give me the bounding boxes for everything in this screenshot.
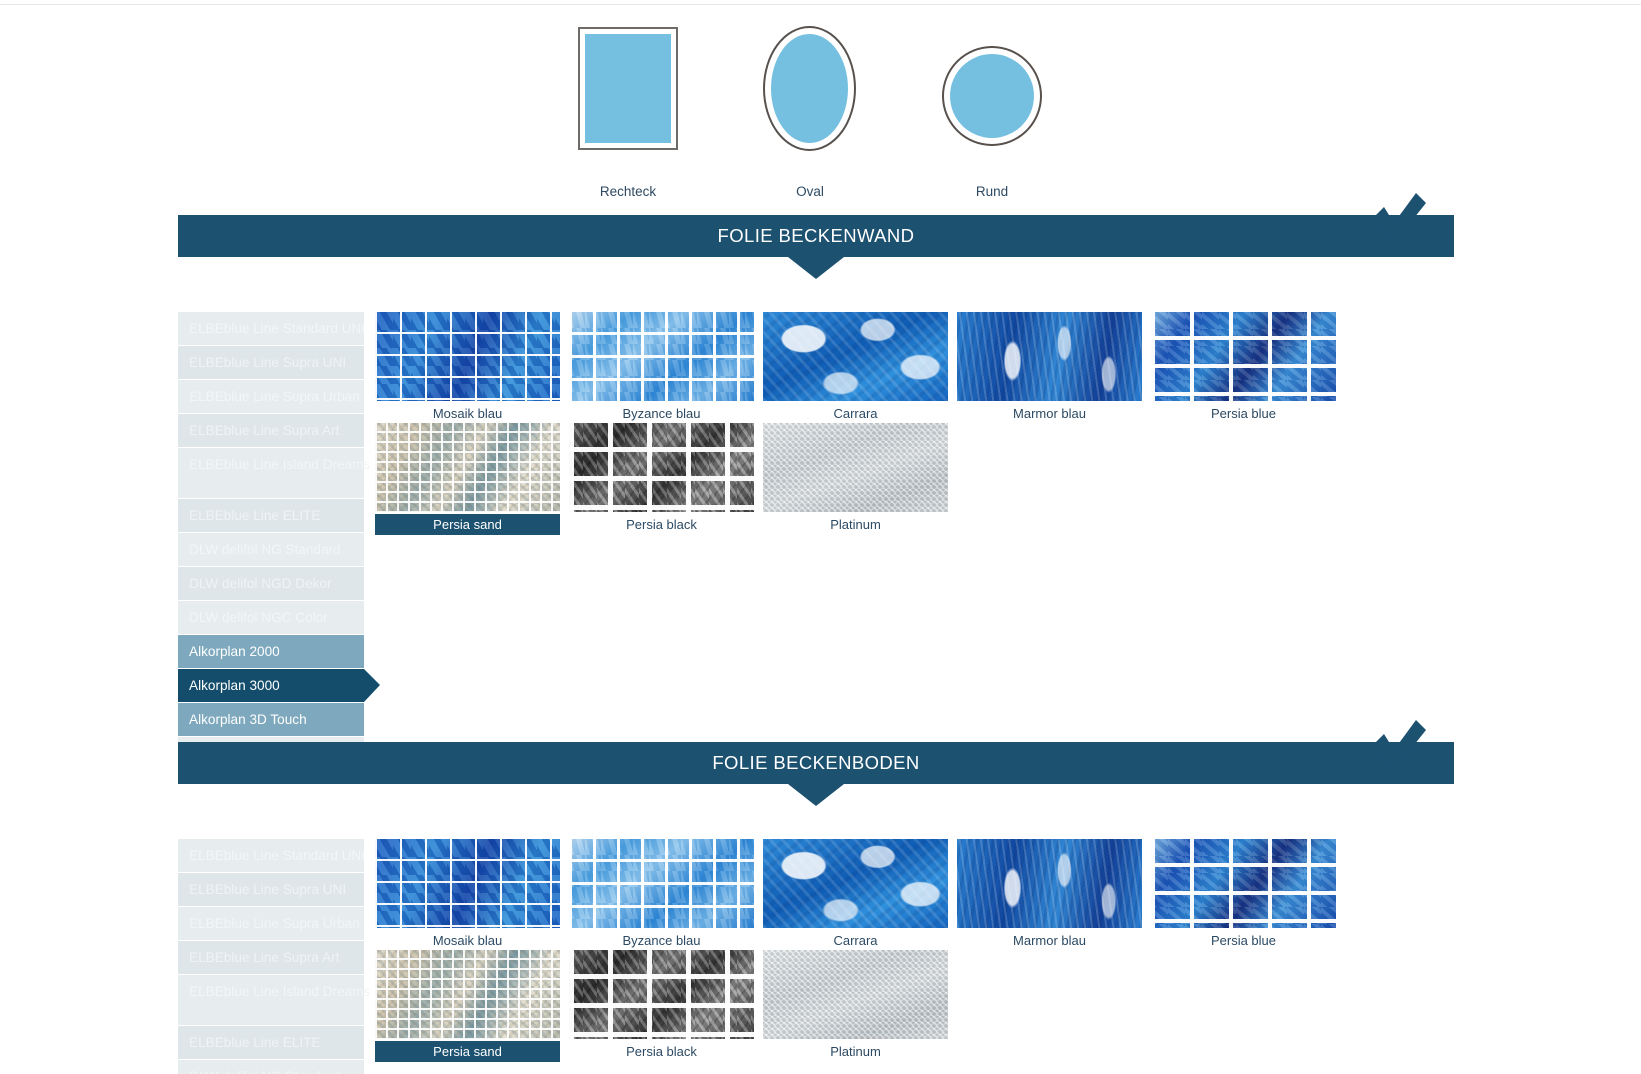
liner-brand-item: ELBEblue Line ELITE: [178, 1026, 364, 1059]
liner-swatch[interactable]: Persia black: [569, 423, 754, 535]
liner-swatch[interactable]: Platinum: [763, 950, 948, 1062]
liner-brand-label: ELBEblue Line Standard UNI: [189, 848, 365, 863]
liner-brand-label: ELBEblue Line Island Dreams: [189, 456, 364, 474]
section-header-bar-wall[interactable]: FOLIE BECKENWAND: [178, 215, 1454, 257]
section-title-floor: FOLIE BECKENBODEN: [178, 742, 1454, 784]
section-folie-beckenboden: FOLIE BECKENBODEN ELBEblue Line Standard…: [0, 742, 1641, 1074]
section-header-bar-floor[interactable]: FOLIE BECKENBODEN: [178, 742, 1454, 784]
liner-swatch-label: Platinum: [763, 1041, 948, 1062]
liner-brand-item: DLW delifol NG Standard: [178, 1060, 364, 1074]
liner-brand-label: Alkorplan 3000: [189, 678, 280, 693]
swatch-row: Mosaik blauByzance blauCarraraMarmor bla…: [375, 312, 1325, 423]
liner-texture-preview[interactable]: [763, 423, 948, 512]
section-header-wall[interactable]: FOLIE BECKENWAND: [0, 215, 1641, 257]
rectangle-pool-icon: [578, 27, 678, 150]
round-pool-icon: [942, 46, 1042, 146]
swatch-row: Mosaik blauByzance blauCarraraMarmor bla…: [375, 839, 1325, 950]
liner-texture-preview[interactable]: [1151, 839, 1336, 928]
liner-swatch-label: Carrara: [763, 403, 948, 424]
liner-swatch[interactable]: Persia black: [569, 950, 754, 1062]
liner-swatch-label: Persia black: [569, 1041, 754, 1062]
liner-brand-item: ELBEblue Line Supra Urban: [178, 907, 364, 940]
liner-texture-preview[interactable]: [375, 312, 560, 401]
section-folie-beckenwand: FOLIE BECKENWAND ELBEblue Line Standard …: [0, 215, 1641, 657]
liner-texture-preview[interactable]: [763, 950, 948, 1039]
section-header-floor[interactable]: FOLIE BECKENBODEN: [0, 742, 1641, 784]
liner-brand-label: ELBEblue Line Supra Urban: [189, 916, 360, 931]
round-pool-fill: [950, 54, 1034, 138]
top-divider: [0, 4, 1641, 5]
pool-shape-selector: Rechteck Oval Rund: [560, 14, 1080, 204]
liner-brand-item: ELBEblue Line Supra Art: [178, 941, 364, 974]
liner-swatch-label: Carrara: [763, 930, 948, 951]
checkmark-icon[interactable]: [1370, 191, 1430, 247]
liner-brand-item: DLW delifol NGC Color: [178, 601, 364, 634]
liner-brand-item: ELBEblue Line Standard UNI: [178, 839, 364, 872]
section-content-floor: ELBEblue Line Standard UNIELBEblue Line …: [0, 784, 1641, 1074]
liner-swatch[interactable]: Marmor blau: [957, 312, 1142, 424]
liner-brand-label: ELBEblue Line Supra UNI: [189, 355, 346, 370]
liner-swatch[interactable]: Byzance blau: [569, 312, 754, 424]
liner-swatch-grid-wall: Mosaik blauByzance blauCarraraMarmor bla…: [375, 312, 1325, 534]
liner-swatch-label: Persia sand: [375, 1041, 560, 1062]
oval-pool-fill: [771, 34, 848, 143]
liner-brand-label: DLW delifol NG Standard: [189, 1069, 341, 1074]
liner-texture-preview[interactable]: [569, 312, 754, 401]
liner-swatch-label: Persia blue: [1151, 930, 1336, 951]
liner-texture-preview[interactable]: [375, 423, 560, 512]
liner-swatch-label: Byzance blau: [569, 930, 754, 951]
liner-swatch-label: Persia blue: [1151, 403, 1336, 424]
swatch-row: Persia sandPersia blackPlatinum: [375, 950, 1325, 1061]
liner-brand-label: ELBEblue Line Island Dreams: [189, 983, 364, 1001]
liner-brand-label: ELBEblue Line Standard UNI: [189, 321, 365, 336]
liner-texture-preview[interactable]: [569, 950, 754, 1039]
liner-brand-label: ELBEblue Line Supra Art: [189, 950, 339, 965]
pool-configurator-page: Rechteck Oval Rund FOLIE BECKENWAND: [0, 0, 1641, 1074]
shape-label-rechteck: Rechteck: [600, 184, 656, 199]
liner-swatch[interactable]: Mosaik blau: [375, 839, 560, 951]
liner-brand-item[interactable]: Alkorplan 3000: [178, 669, 364, 702]
liner-texture-preview[interactable]: [569, 423, 754, 512]
liner-brand-label: Alkorplan 3D Touch: [189, 712, 307, 727]
liner-swatch[interactable]: Mosaik blau: [375, 312, 560, 424]
liner-texture-preview[interactable]: [375, 839, 560, 928]
active-pointer-icon: [364, 669, 380, 702]
liner-swatch[interactable]: Persia sand: [375, 423, 560, 535]
liner-brand-item: DLW delifol NGD Dekor: [178, 567, 364, 600]
liner-swatch-label: Marmor blau: [957, 403, 1142, 424]
liner-swatch[interactable]: Persia blue: [1151, 839, 1336, 951]
liner-swatch[interactable]: Carrara: [763, 312, 948, 424]
liner-swatch-grid-floor: Mosaik blauByzance blauCarraraMarmor bla…: [375, 839, 1325, 1061]
liner-brand-item: ELBEblue Line Island Dreams: [178, 975, 364, 1025]
liner-brand-label: DLW delifol NGC Color: [189, 610, 328, 625]
liner-swatch-label: Marmor blau: [957, 930, 1142, 951]
liner-texture-preview[interactable]: [763, 312, 948, 401]
liner-swatch[interactable]: Persia blue: [1151, 312, 1336, 424]
liner-texture-preview[interactable]: [957, 839, 1142, 928]
liner-swatch[interactable]: Carrara: [763, 839, 948, 951]
oval-pool-icon: [763, 26, 856, 151]
liner-swatch-label: Mosaik blau: [375, 930, 560, 951]
liner-brand-label: DLW delifol NGD Dekor: [189, 576, 332, 591]
liner-brand-item[interactable]: Alkorplan 3D Touch: [178, 703, 364, 736]
liner-swatch[interactable]: Persia sand: [375, 950, 560, 1062]
liner-swatch-label: Persia sand: [375, 514, 560, 535]
liner-brand-item: ELBEblue Line Island Dreams: [178, 448, 364, 498]
liner-texture-preview[interactable]: [763, 839, 948, 928]
shape-label-rund: Rund: [976, 184, 1008, 199]
section-title-wall: FOLIE BECKENWAND: [178, 215, 1454, 257]
liner-swatch[interactable]: Platinum: [763, 423, 948, 535]
liner-brand-item: ELBEblue Line Supra Urban: [178, 380, 364, 413]
liner-brand-item: DLW delifol NG Standard: [178, 533, 364, 566]
section-content-wall: ELBEblue Line Standard UNIELBEblue Line …: [0, 257, 1641, 657]
liner-texture-preview[interactable]: [957, 312, 1142, 401]
shape-label-oval: Oval: [796, 184, 824, 199]
liner-brand-list-floor: ELBEblue Line Standard UNIELBEblue Line …: [178, 839, 364, 1074]
liner-swatch[interactable]: Marmor blau: [957, 839, 1142, 951]
liner-swatch-label: Persia black: [569, 514, 754, 535]
liner-brand-label: ELBEblue Line Supra Art: [189, 423, 339, 438]
liner-brand-label: DLW delifol NG Standard: [189, 542, 341, 557]
liner-brand-item: ELBEblue Line Supra Art: [178, 414, 364, 447]
liner-brand-item: ELBEblue Line ELITE: [178, 499, 364, 532]
liner-brand-label: ELBEblue Line Supra UNI: [189, 882, 346, 897]
liner-texture-preview[interactable]: [1151, 312, 1336, 401]
liner-texture-preview[interactable]: [375, 950, 560, 1039]
liner-brand-label: ELBEblue Line Supra Urban: [189, 389, 360, 404]
liner-brand-list-wall: ELBEblue Line Standard UNIELBEblue Line …: [178, 312, 364, 771]
rectangle-pool-fill: [585, 34, 671, 143]
liner-swatch-label: Byzance blau: [569, 403, 754, 424]
liner-swatch-label: Platinum: [763, 514, 948, 535]
swatch-row: Persia sandPersia blackPlatinum: [375, 423, 1325, 534]
liner-brand-label: Alkorplan 2000: [189, 644, 280, 659]
liner-brand-item: ELBEblue Line Supra UNI: [178, 873, 364, 906]
liner-brand-label: ELBEblue Line ELITE: [189, 1035, 321, 1050]
liner-brand-item: ELBEblue Line Supra UNI: [178, 346, 364, 379]
liner-swatch-label: Mosaik blau: [375, 403, 560, 424]
liner-brand-label: ELBEblue Line ELITE: [189, 508, 321, 523]
liner-brand-item: ELBEblue Line Standard UNI: [178, 312, 364, 345]
checkmark-icon[interactable]: [1370, 718, 1430, 774]
liner-texture-preview[interactable]: [569, 839, 754, 928]
liner-brand-item[interactable]: Alkorplan 2000: [178, 635, 364, 668]
liner-swatch[interactable]: Byzance blau: [569, 839, 754, 951]
